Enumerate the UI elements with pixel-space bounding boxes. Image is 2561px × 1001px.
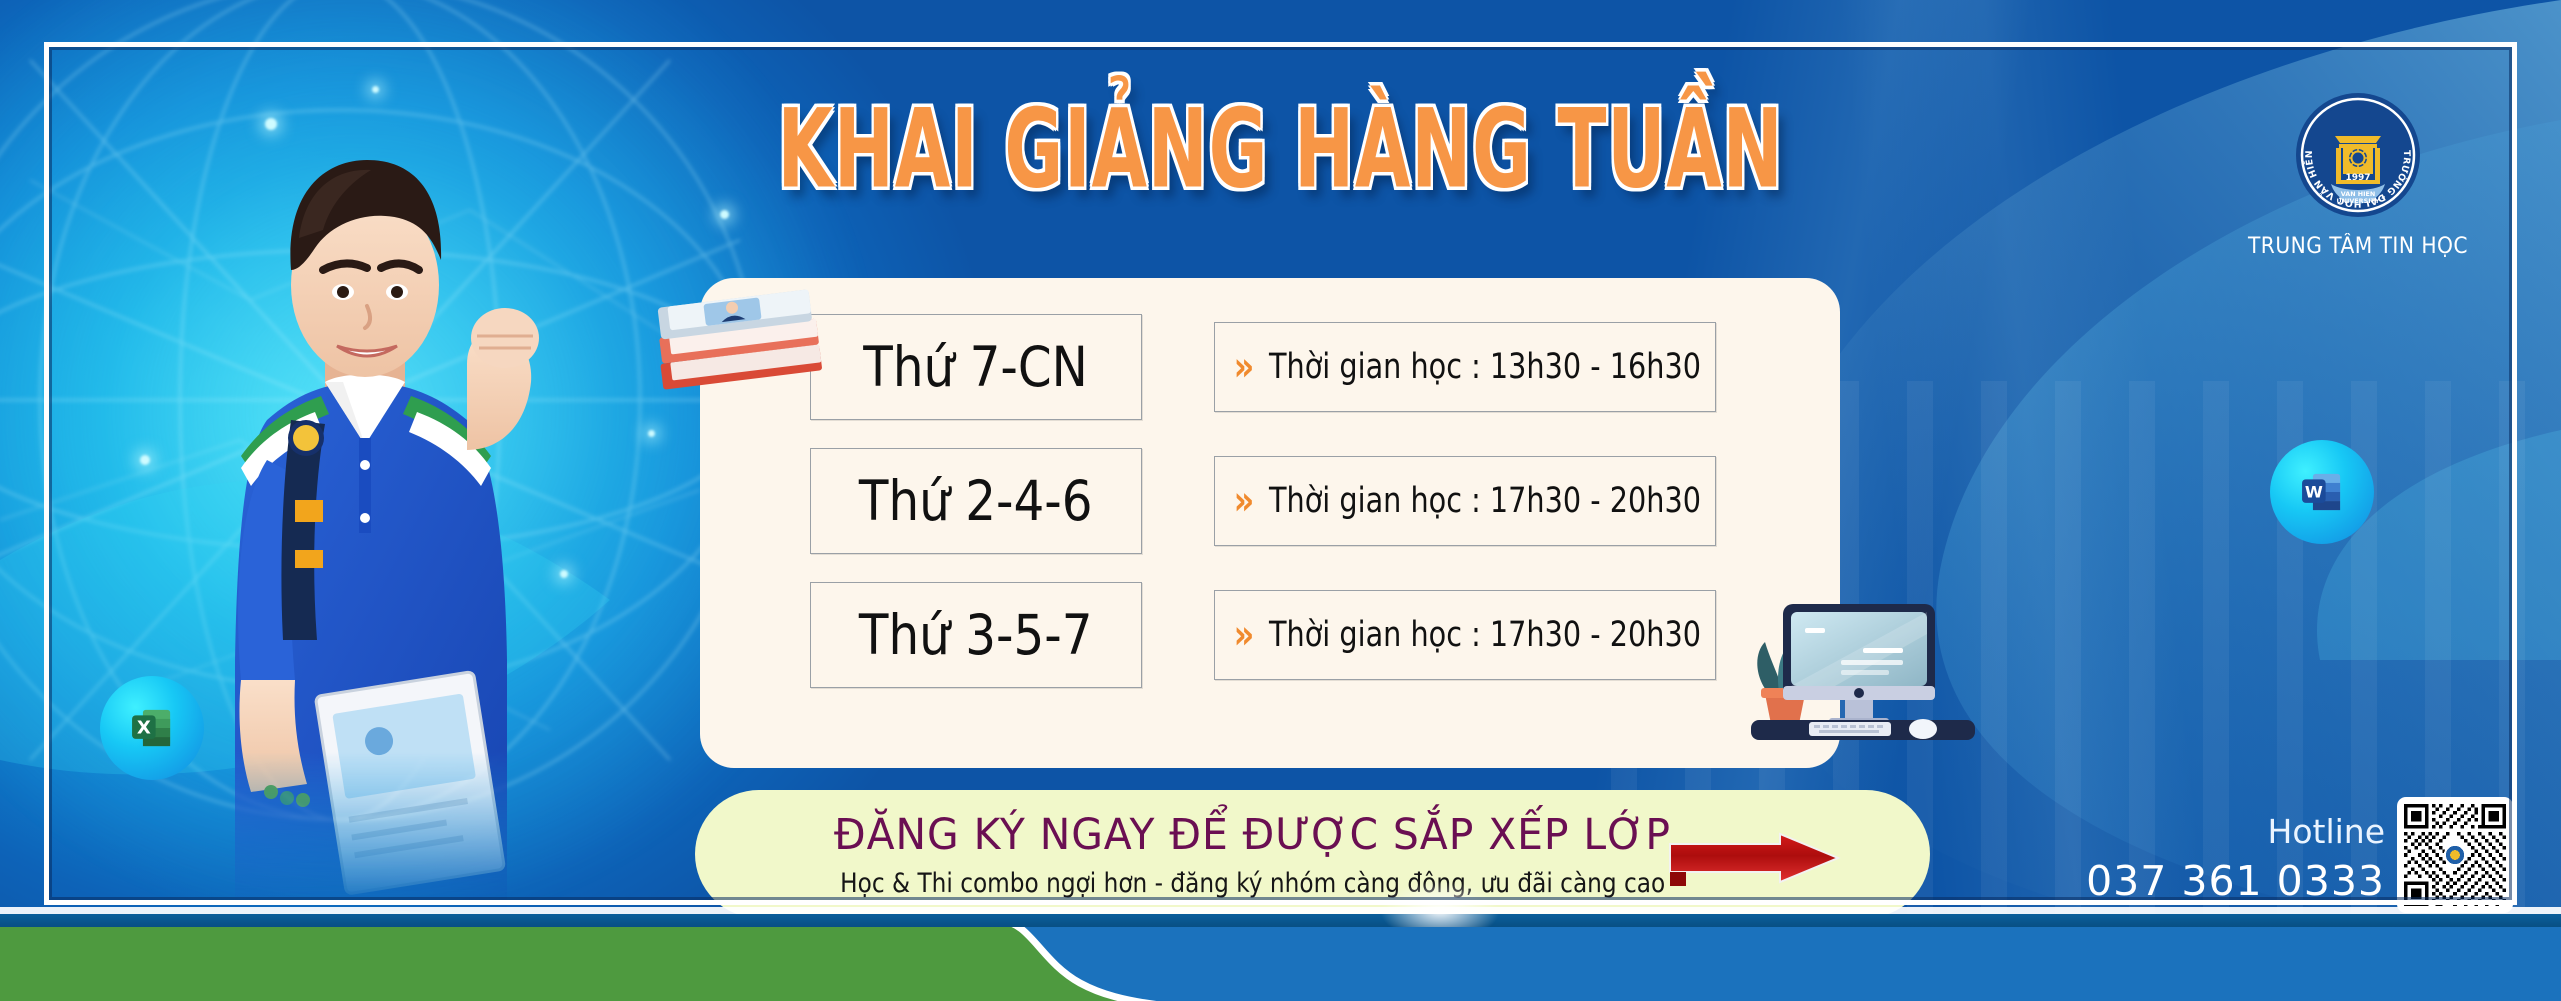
- time-box[interactable]: » Thời gian học : 17h30 - 20h30: [1214, 456, 1716, 546]
- schedule-row: Thứ 3-5-7 » Thời gian học : 17h30 - 20h3…: [810, 582, 1814, 688]
- desktop-computer-icon: [1735, 588, 1990, 753]
- hotline-number: 037 361 0333: [2086, 857, 2385, 905]
- day-label: Thứ 7-CN: [864, 335, 1089, 399]
- cta-headline: ĐĂNG KÝ NGAY ĐỂ ĐƯỢC SẮP XẾP LỚP: [834, 810, 1671, 860]
- bottom-band-curve: [700, 927, 1320, 1001]
- excel-icon[interactable]: X: [100, 676, 204, 780]
- day-label: Thứ 2-4-6: [859, 469, 1093, 533]
- time-box[interactable]: » Thời gian học : 13h30 - 16h30: [1214, 322, 1716, 412]
- cta-subline: Học & Thi combo ngợi hơn - đăng ký nhóm …: [840, 868, 1665, 899]
- schedule-row: Thứ 7-CN » Thời gian học : 13h30 - 16h30: [810, 314, 1814, 420]
- schedule-rows: Thứ 7-CN » Thời gian học : 13h30 - 16h30…: [810, 314, 1814, 688]
- arrow-right-icon: [1664, 832, 1844, 890]
- page-title: KHAI GIẢNG HÀNG TUẦN: [282, 86, 2280, 212]
- divider-dark: [0, 914, 2561, 927]
- hotline-block: Hotline 037 361 0333: [2086, 812, 2385, 905]
- qr-code[interactable]: [2397, 797, 2513, 913]
- time-box[interactable]: » Thời gian học : 17h30 - 20h30: [1214, 590, 1716, 680]
- day-box[interactable]: Thứ 2-4-6: [810, 448, 1142, 554]
- svg-text:UNIVERSITY: UNIVERSITY: [2336, 197, 2379, 205]
- time-label: Thời gian học : 17h30 - 20h30: [1269, 481, 1701, 521]
- student-photo: [175, 120, 595, 910]
- svg-text:1997: 1997: [2345, 173, 2370, 183]
- promo-banner: KHAI GIẢNG HÀNG TUẦN Thứ 7-CN » Thời gia…: [0, 0, 2561, 1001]
- schedule-row: Thứ 2-4-6 » Thời gian học : 17h30 - 20h3…: [810, 448, 1814, 554]
- books-stack-icon: [650, 280, 830, 400]
- cta-banner[interactable]: ĐĂNG KÝ NGAY ĐỂ ĐƯỢC SẮP XẾP LỚP Học & T…: [695, 790, 1930, 918]
- day-label: Thứ 3-5-7: [859, 603, 1093, 667]
- double-chevron-icon: »: [1234, 481, 1255, 521]
- double-chevron-icon: »: [1234, 347, 1255, 387]
- day-box[interactable]: Thứ 7-CN: [810, 314, 1142, 420]
- bottom-band: [0, 927, 2561, 1001]
- day-box[interactable]: Thứ 3-5-7: [810, 582, 1142, 688]
- svg-text:W: W: [2305, 482, 2323, 501]
- double-chevron-icon: »: [1234, 615, 1255, 655]
- time-label: Thời gian học : 17h30 - 20h30: [1269, 615, 1701, 655]
- logo-caption: TRUNG TÂM TIN HỌC: [2243, 234, 2473, 259]
- university-seal-icon: TRƯỜNG ĐẠI HỌC VĂN HIẾN 1997: [2295, 92, 2421, 218]
- schedule-card: Thứ 7-CN » Thời gian học : 13h30 - 16h30…: [700, 278, 1840, 768]
- svg-text:X: X: [137, 717, 151, 738]
- divider-white: [0, 907, 2561, 914]
- time-label: Thời gian học : 13h30 - 16h30: [1269, 347, 1701, 387]
- hotline-label: Hotline: [2086, 812, 2385, 851]
- university-logo: TRƯỜNG ĐẠI HỌC VĂN HIẾN 1997: [2233, 92, 2483, 259]
- word-icon[interactable]: W: [2270, 440, 2374, 544]
